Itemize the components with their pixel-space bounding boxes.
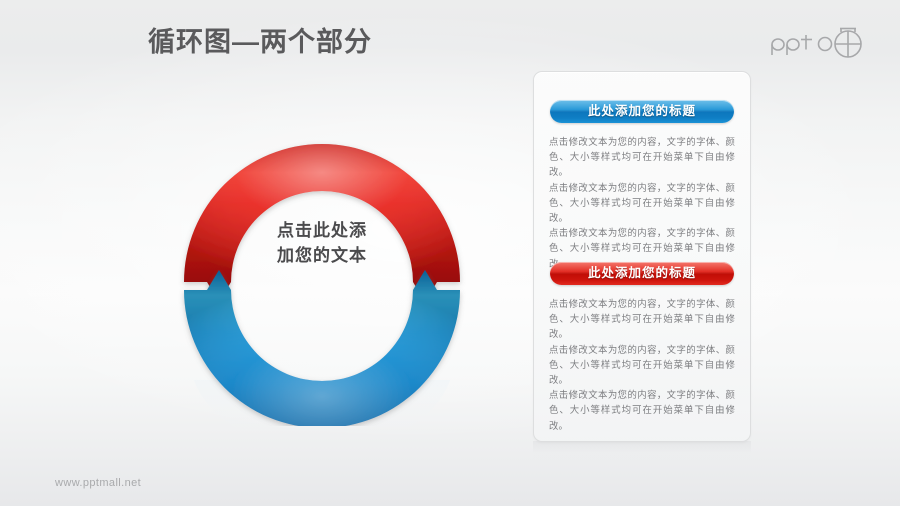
- panel-section-red: 此处添加您的标题 点击修改文本为您的内容，文字的字体、颜色、大小等样式均可在开始…: [534, 262, 750, 433]
- diagram-segment-blue[interactable]: [184, 270, 460, 426]
- section-blue-title: 此处添加您的标题: [588, 104, 696, 118]
- section-blue-paragraph: 点击修改文本为您的内容，文字的字体、颜色、大小等样式均可在开始菜单下自由修改。: [549, 180, 735, 226]
- pptmall-logo: [768, 22, 878, 62]
- section-blue-body[interactable]: 点击修改文本为您的内容，文字的字体、颜色、大小等样式均可在开始菜单下自由修改。 …: [549, 134, 735, 271]
- content-panel-reflection: [533, 441, 751, 467]
- page-title: 循环图—两个部分: [148, 20, 372, 59]
- diagram-segment-red[interactable]: [184, 144, 460, 302]
- pptmall-logo-icon: [768, 22, 878, 62]
- section-blue-paragraph: 点击修改文本为您的内容，文字的字体、颜色、大小等样式均可在开始菜单下自由修改。: [549, 134, 735, 180]
- section-red-paragraph: 点击修改文本为您的内容，文字的字体、颜色、大小等样式均可在开始菜单下自由修改。: [549, 342, 735, 388]
- section-red-paragraph: 点击修改文本为您的内容，文字的字体、颜色、大小等样式均可在开始菜单下自由修改。: [549, 387, 735, 433]
- section-blue-title-bar[interactable]: 此处添加您的标题: [550, 100, 734, 123]
- section-red-title-bar[interactable]: 此处添加您的标题: [550, 262, 734, 285]
- slide-canvas: 循环图—两个部分: [0, 0, 900, 506]
- section-red-paragraph: 点击修改文本为您的内容，文字的字体、颜色、大小等样式均可在开始菜单下自由修改。: [549, 296, 735, 342]
- content-panel: 此处添加您的标题 点击修改文本为您的内容，文字的字体、颜色、大小等样式均可在开始…: [533, 71, 751, 442]
- panel-section-blue: 此处添加您的标题 点击修改文本为您的内容，文字的字体、颜色、大小等样式均可在开始…: [534, 100, 750, 271]
- footer-url: www.pptmall.net: [55, 477, 141, 489]
- section-red-body[interactable]: 点击修改文本为您的内容，文字的字体、颜色、大小等样式均可在开始菜单下自由修改。 …: [549, 296, 735, 433]
- cycle-diagram[interactable]: [172, 116, 472, 426]
- section-red-title: 此处添加您的标题: [588, 266, 696, 280]
